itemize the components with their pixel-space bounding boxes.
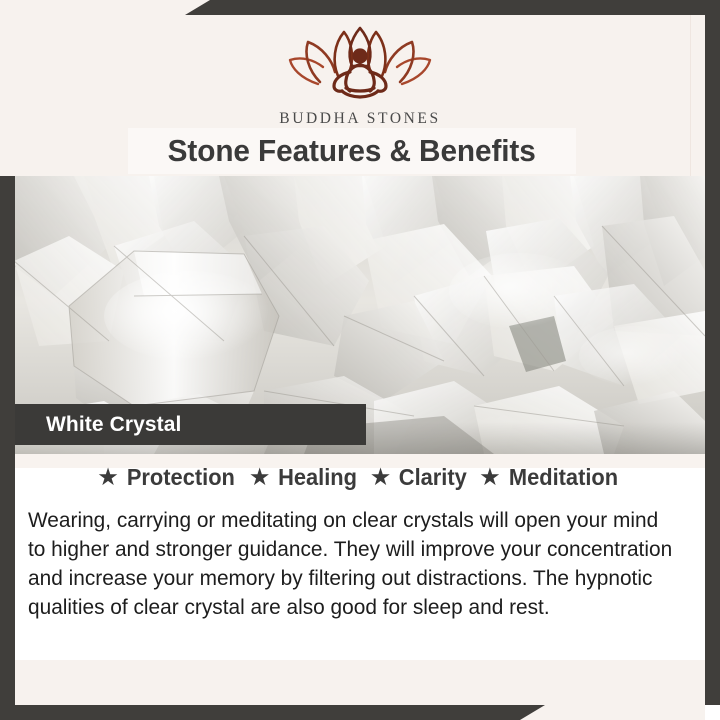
frame-top-edge: [185, 0, 720, 15]
frame-right-edge: [705, 0, 720, 705]
photo-caption-band: White Crystal: [14, 404, 366, 445]
photo-caption-label: White Crystal: [46, 413, 182, 437]
benefit-label: Protection: [127, 464, 235, 491]
benefit-label: Healing: [278, 464, 357, 491]
page-title: Stone Features & Benefits: [168, 133, 536, 169]
star-icon: ★: [371, 467, 390, 488]
content-panel: ★ Protection ★ Healing ★ Clarity ★ Medit…: [15, 454, 705, 660]
title-banner: Stone Features & Benefits: [128, 128, 576, 174]
lotus-meditation-figure-icon: [284, 22, 436, 106]
benefits-list: ★ Protection ★ Healing ★ Clarity ★ Medit…: [15, 464, 705, 491]
brand-logo: BUDDHA STONES: [0, 22, 720, 128]
frame-left-edge: [0, 176, 15, 720]
benefit-item-meditation: ★ Meditation: [481, 464, 622, 491]
star-icon: ★: [99, 467, 118, 488]
benefit-item-protection: ★ Protection: [99, 464, 239, 491]
benefit-label: Meditation: [509, 464, 618, 491]
benefit-label: Clarity: [399, 464, 467, 491]
benefit-item-healing: ★ Healing: [250, 464, 359, 491]
star-icon: ★: [481, 467, 500, 488]
description-text: Wearing, carrying or meditating on clear…: [28, 506, 676, 622]
benefit-item-clarity: ★ Clarity: [371, 464, 468, 491]
infographic-card: BUDDHA STONES Stone Features & Benefits: [0, 0, 720, 720]
frame-bottom-edge: [0, 705, 545, 720]
star-icon: ★: [250, 467, 269, 488]
brand-name: BUDDHA STONES: [279, 110, 440, 128]
